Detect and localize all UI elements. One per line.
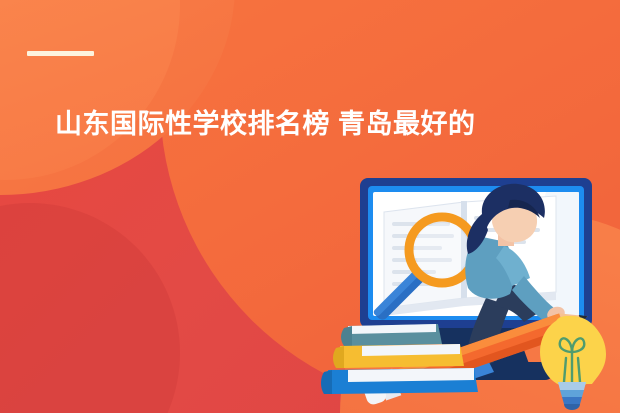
illustration: [318, 176, 620, 413]
banner-headline: 山东国际性学校排名榜 青岛最好的: [55, 108, 575, 142]
accent-rule: [27, 51, 94, 56]
lightbulb-icon: [540, 316, 606, 410]
article-cover-banner: 山东国际性学校排名榜 青岛最好的: [0, 0, 620, 413]
